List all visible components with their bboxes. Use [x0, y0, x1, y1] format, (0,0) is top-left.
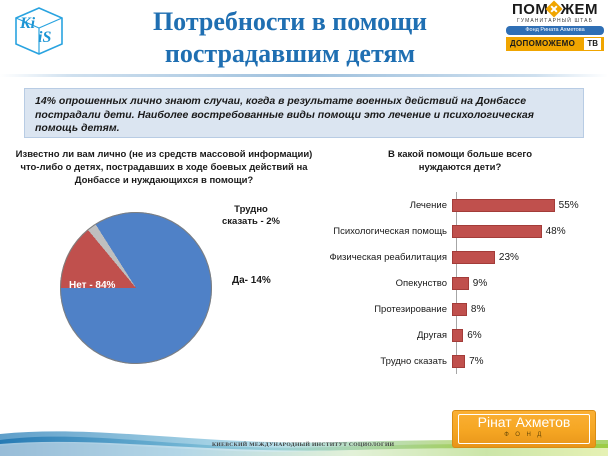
bar-chart-row: Трудно сказать7%	[314, 348, 606, 374]
bar-chart-row: Опекунство9%	[314, 270, 606, 296]
bar-category-label: Физическая реабилитация	[314, 252, 452, 263]
pomozhem-word-part-2: ЖЕМ	[560, 1, 598, 18]
bar-track: 7%	[452, 348, 606, 374]
bar-value-label: 9%	[473, 278, 487, 289]
bar-track: 8%	[452, 296, 606, 322]
kiis-logo: Ki iS	[8, 6, 70, 56]
bar-chart-question-line-2: нуждаются дети?	[419, 162, 502, 173]
header-divider	[0, 74, 608, 77]
dopomozhemo-label: ДОПОМОЖЕМО	[510, 39, 575, 49]
bar-fill	[452, 199, 555, 212]
bar-category-label: Лечение	[314, 200, 452, 211]
bar-fill	[452, 303, 467, 316]
tv-badge: ТВ	[584, 38, 601, 50]
dopomozhemo-tv-bar: ДОПОМОЖЕМО ТВ	[506, 37, 604, 51]
bar-value-label: 55%	[559, 200, 579, 211]
bar-fill	[452, 225, 542, 238]
svg-text:Ki: Ki	[19, 15, 36, 32]
akhmetov-logo-name: Рінат Ахметов	[453, 414, 595, 430]
bar-chart-row: Психологическая помощь48%	[314, 218, 606, 244]
bar-track: 9%	[452, 270, 606, 296]
pie-slice-label-hard-to-say: Трудно сказать - 2%	[218, 204, 284, 228]
bar-value-label: 8%	[471, 304, 485, 315]
bar-value-label: 48%	[546, 226, 566, 237]
bar-chart-row: Другая6%	[314, 322, 606, 348]
page-title: Потребности в помощи пострадавшим детям	[86, 6, 494, 70]
summary-callout-text: 14% опрошенных лично знают случаи, когда…	[35, 95, 573, 136]
bar-fill	[452, 277, 469, 290]
bar-value-label: 23%	[499, 252, 519, 263]
bar-category-label: Трудно сказать	[314, 356, 452, 367]
pie-slice-label-yes: Да- 14%	[232, 275, 271, 286]
kiis-full-name-label: КИЕВСКИЙ МЕЖДУНАРОДНЫЙ ИНСТИТУТ СОЦИОЛОГ…	[212, 442, 394, 448]
bar-track: 6%	[452, 322, 606, 348]
bar-chart-row: Физическая реабилитация23%	[314, 244, 606, 270]
pie-chart-panel: Известно ли вам лично (не из средств мас…	[14, 148, 314, 388]
bar-value-label: 7%	[469, 356, 483, 367]
bar-chart-panel: В какой помощи больше всего нуждаются де…	[314, 148, 606, 396]
pie-chart-question: Известно ли вам лично (не из средств мас…	[14, 148, 314, 187]
svg-text:iS: iS	[38, 29, 51, 46]
summary-callout-box: 14% опрошенных лично знают случаи, когда…	[24, 88, 584, 138]
bar-value-label: 6%	[467, 330, 481, 341]
bar-chart-area: Лечение55%Психологическая помощь48%Физич…	[314, 192, 606, 374]
pomozhem-logo-top: ПОМЖЕМ ГУМАНИТАРНЫЙ ШТАБ Фонд Рината Ахм…	[506, 1, 604, 35]
bar-category-label: Протезирование	[314, 304, 452, 315]
bar-category-label: Опекунство	[314, 278, 452, 289]
pie-chart-area: Нет - 84% Да- 14% Трудно сказать - 2%	[14, 210, 314, 386]
bar-fill	[452, 251, 495, 264]
bar-chart-rows: Лечение55%Психологическая помощь48%Физич…	[314, 192, 606, 374]
pie-slice-label-no: Нет - 84%	[69, 280, 115, 291]
bar-chart-row: Протезирование8%	[314, 296, 606, 322]
akhmetov-logo-fond: Ф О Н Д	[453, 431, 595, 439]
bar-chart-row: Лечение55%	[314, 192, 606, 218]
bar-track: 23%	[452, 244, 606, 270]
pomozhem-logo: ПОМЖЕМ ГУМАНИТАРНЫЙ ШТАБ Фонд Рината Ахм…	[506, 1, 604, 51]
page-title-line-1: Потребности в помощи	[86, 6, 494, 38]
bar-chart-question: В какой помощи больше всего нуждаются де…	[314, 148, 606, 174]
bar-track: 55%	[452, 192, 606, 218]
pomozhem-word-part-1: ПОМ	[512, 1, 548, 18]
pomozhem-fond-line: Фонд Рината Ахметова	[506, 26, 604, 35]
page-title-line-2: пострадавшим детям	[86, 38, 494, 70]
bar-track: 48%	[452, 218, 606, 244]
bar-category-label: Другая	[314, 330, 452, 341]
bar-chart-question-line-1: В какой помощи больше всего	[388, 149, 532, 160]
pomozhem-wordmark: ПОМЖЕМ	[506, 2, 604, 18]
bar-fill	[452, 355, 465, 368]
page-header: Ki iS Потребности в помощи пострадавшим …	[0, 0, 608, 80]
bar-category-label: Психологическая помощь	[314, 226, 452, 237]
kiis-logo-icon: Ki iS	[8, 6, 70, 56]
akhmetov-foundation-logo: Рінат Ахметов Ф О Н Д	[452, 410, 596, 448]
pomozhem-subtitle: ГУМАНИТАРНЫЙ ШТАБ	[506, 18, 604, 25]
bar-fill	[452, 329, 463, 342]
